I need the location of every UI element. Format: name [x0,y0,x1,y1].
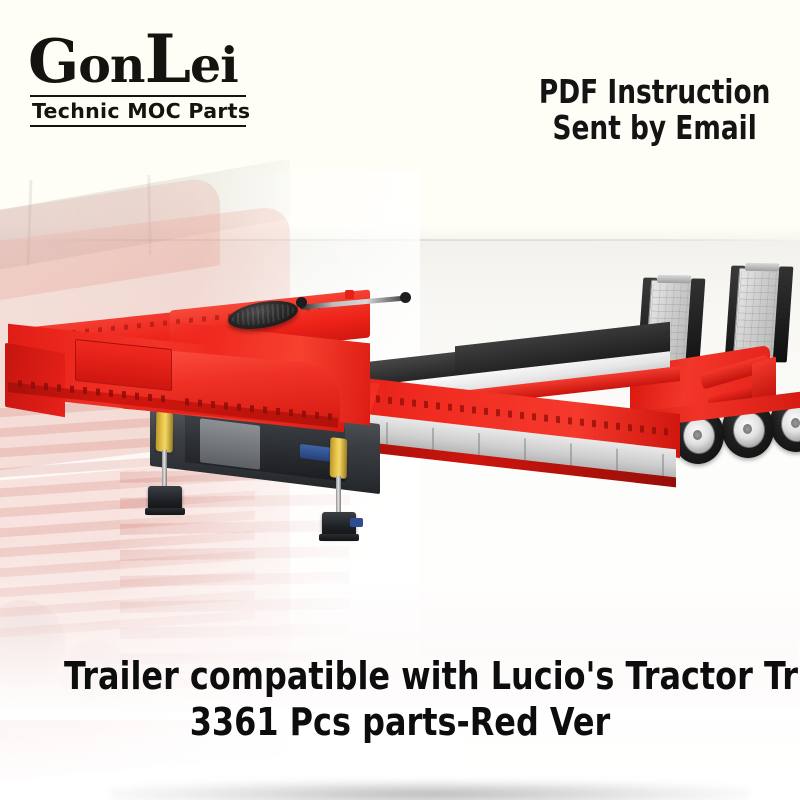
landing-leg-rod [162,450,167,490]
promo-headline-line2: Sent by Email [538,110,770,146]
pneumatic-cylinder [156,411,174,453]
linkage-knob [296,297,307,308]
landing-leg-rod [336,476,341,516]
gooseneck-nose [5,343,65,418]
brand-wordmark: GonLei [28,26,268,92]
promo-headline-line1: PDF Instruction [538,74,770,110]
caption-line2: 3361 Pcs parts-Red Ver [64,701,736,744]
landing-leg-blue-pin [350,518,363,527]
ramp-top-cap [745,263,780,272]
wheel-hub [791,418,800,428]
landing-leg-pad [145,508,185,515]
product-image: GonLei Technic MOC Parts PDF Instruction… [0,0,800,800]
brand-logo: GonLei Technic MOC Parts [28,26,268,129]
undercarriage-gray-block [200,418,260,469]
ground-shadow [110,780,750,800]
linkage-red-pin [345,290,354,299]
product-caption: Trailer compatible with Lucio's Tractor … [0,655,800,744]
ramp-top-cap [657,275,692,284]
trailer-model [0,260,800,540]
brand-tagline: Technic MOC Parts [32,99,268,123]
pneumatic-cylinder [330,437,348,479]
wordmark-on: on [78,36,144,94]
wordmark-g: G [28,27,78,97]
wheel-hub [743,424,752,434]
linkage-knob [400,292,411,303]
wheel-hub [693,430,702,440]
caption-line1: Trailer compatible with Lucio's Tractor … [64,655,736,698]
logo-divider-bottom [30,125,246,127]
wordmark-ei: ei [190,36,238,94]
wordmark-l: L [145,20,190,98]
promo-headline: PDF Instruction Sent by Email [538,74,770,145]
